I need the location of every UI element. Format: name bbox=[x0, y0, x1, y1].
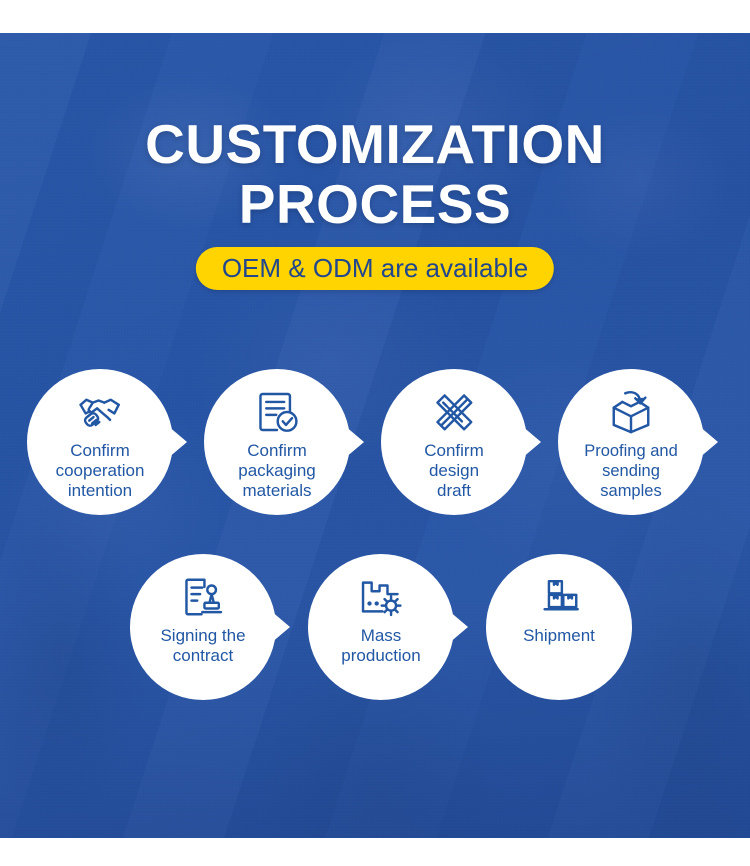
step-label: Confirm packaging materials bbox=[210, 441, 344, 501]
step-confirm-cooperation-intention[interactable]: Confirm cooperation intention bbox=[27, 369, 173, 515]
step-label: Signing the contract bbox=[136, 626, 270, 666]
step-shipment[interactable]: Shipment bbox=[486, 554, 632, 700]
contract-stamp-icon bbox=[179, 574, 227, 620]
page-title-line-1: CUSTOMIZATION bbox=[0, 114, 750, 174]
step-bubble: Mass production bbox=[308, 554, 454, 700]
bottom-white-margin bbox=[0, 838, 750, 866]
step-bubble: Signing the contract bbox=[130, 554, 276, 700]
handshake-icon bbox=[76, 389, 124, 435]
step-bubble: Shipment bbox=[486, 554, 632, 700]
customization-process-banner: CUSTOMIZATION PROCESS OEM & ODM are avai… bbox=[0, 0, 750, 866]
top-white-margin bbox=[0, 0, 750, 33]
step-label: Shipment bbox=[492, 626, 626, 646]
step-bubble: Proofing and sending samples bbox=[558, 369, 704, 515]
stacked-boxes-icon bbox=[535, 574, 583, 620]
step-bubble: Confirm packaging materials bbox=[204, 369, 350, 515]
open-box-arrow-icon bbox=[607, 389, 655, 435]
oem-odm-badge: OEM & ODM are available bbox=[196, 247, 554, 290]
page-title-line-2: PROCESS bbox=[0, 174, 750, 234]
step-bubble: Confirm design draft bbox=[381, 369, 527, 515]
factory-gear-icon bbox=[357, 574, 405, 620]
step-signing-the-contract[interactable]: Signing the contract bbox=[130, 554, 276, 700]
step-confirm-design-draft[interactable]: Confirm design draft bbox=[381, 369, 527, 515]
step-label: Mass production bbox=[314, 626, 448, 666]
step-label: Confirm cooperation intention bbox=[33, 441, 167, 501]
step-label: Confirm design draft bbox=[387, 441, 521, 501]
document-check-icon bbox=[253, 389, 301, 435]
step-mass-production[interactable]: Mass production bbox=[308, 554, 454, 700]
ruler-pencil-icon bbox=[430, 389, 478, 435]
step-confirm-packaging-materials[interactable]: Confirm packaging materials bbox=[204, 369, 350, 515]
step-bubble: Confirm cooperation intention bbox=[27, 369, 173, 515]
step-proofing-sending-samples[interactable]: Proofing and sending samples bbox=[558, 369, 704, 515]
page-title: CUSTOMIZATION PROCESS bbox=[0, 114, 750, 234]
step-label: Proofing and sending samples bbox=[564, 441, 698, 501]
